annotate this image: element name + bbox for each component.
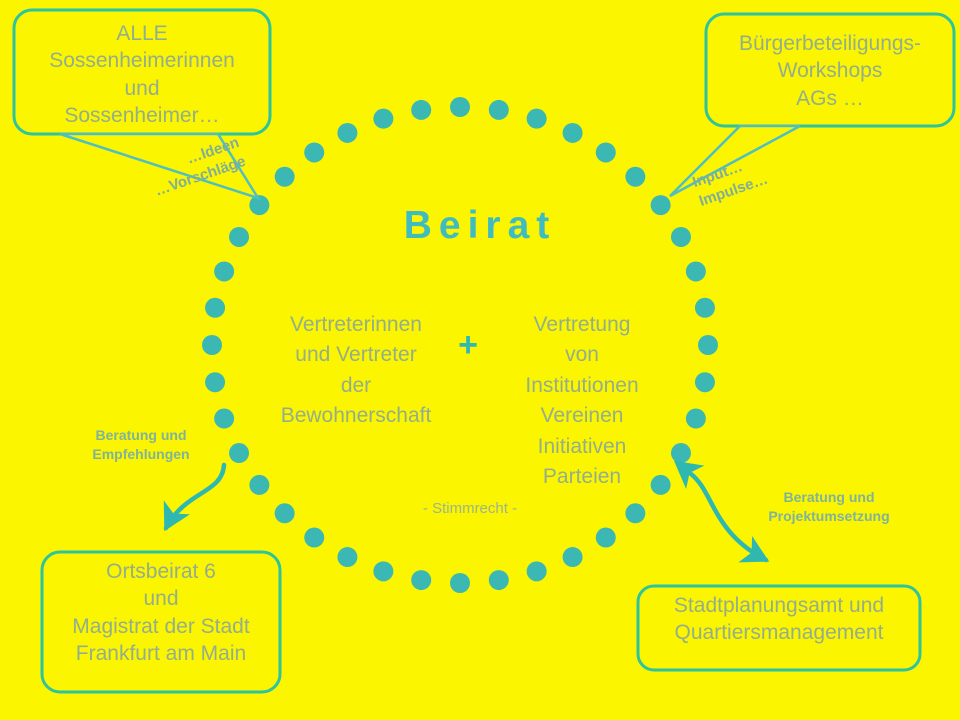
ring-dot	[563, 547, 583, 567]
ring-dot	[249, 475, 269, 495]
ring-dot	[229, 443, 249, 463]
arrow-label-beratung-empfehlungen: Beratung und Empfehlungen	[74, 426, 208, 464]
ring-dot	[450, 573, 470, 593]
diagram-canvas: ALLE Sossenheimerinnen und Sossenheimer……	[0, 0, 960, 720]
ring-dot	[214, 261, 234, 281]
ring-dot	[695, 372, 715, 392]
plus-icon: +	[440, 328, 496, 362]
box-bottom-right-text: Stadtplanungsamt und Quartiersmanagement	[644, 592, 914, 647]
tail-label-input: Input… Impulse…	[690, 135, 817, 212]
ring-dot	[337, 123, 357, 143]
ring-dot	[373, 109, 393, 129]
ring-dot	[275, 167, 295, 187]
center-column-left: Vertreterinnen und Vertreter der Bewohne…	[272, 310, 440, 432]
ring-dot	[489, 100, 509, 120]
ring-dot	[695, 298, 715, 318]
ring-dot	[671, 443, 691, 463]
ring-dot	[205, 372, 225, 392]
ring-dot	[489, 570, 509, 590]
bubble-top-right-text: Bürgerbeteiligungs- Workshops AGs …	[712, 30, 948, 112]
ring-dot	[596, 142, 616, 162]
ring-dot	[686, 409, 706, 429]
ring-dot	[527, 561, 547, 581]
ring-dot	[625, 167, 645, 187]
ring-dot	[304, 528, 324, 548]
ring-dot	[450, 97, 470, 117]
ring-dot	[337, 547, 357, 567]
ring-dot	[698, 335, 718, 355]
bubble-top-left-text: ALLE Sossenheimerinnen und Sossenheimer…	[20, 20, 264, 129]
ring-dot	[214, 409, 234, 429]
ring-dot	[686, 261, 706, 281]
ring-dot	[205, 298, 225, 318]
ring-dot	[373, 561, 393, 581]
ring-dot	[202, 335, 222, 355]
ring-dot	[304, 142, 324, 162]
ring-dot	[411, 100, 431, 120]
ring-dot	[411, 570, 431, 590]
ring-dot	[563, 123, 583, 143]
page-title: Beirat	[0, 204, 960, 248]
arrow-label-beratung-projektumsetzung: Beratung und Projektumsetzung	[746, 488, 912, 526]
ring-dot	[275, 503, 295, 523]
arrow-bottom-left	[166, 465, 224, 528]
center-column-right: Vertretung von Institutionen Vereinen In…	[496, 310, 668, 493]
tail-label-ideen: …Ideen …Vorschläge	[122, 133, 249, 210]
box-bottom-left-text: Ortsbeirat 6 und Magistrat der Stadt Fra…	[46, 558, 276, 667]
stimmrecht-footnote: - Stimmrecht -	[330, 500, 610, 517]
ring-dot	[625, 503, 645, 523]
ring-dot	[596, 528, 616, 548]
ring-dot	[527, 109, 547, 129]
